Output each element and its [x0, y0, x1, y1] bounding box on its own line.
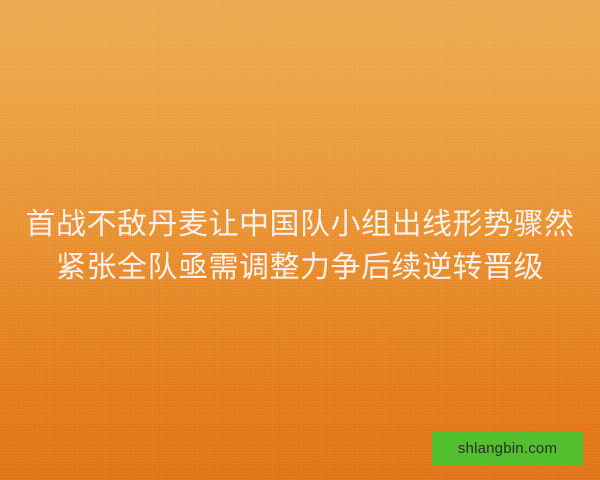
headline-text: 首战不敌丹麦让中国队小组出线形势骤然 紧张全队亟需调整力争后续逆转晋级: [0, 203, 600, 289]
headline-line-1: 首战不敌丹麦让中国队小组出线形势骤然: [0, 203, 600, 246]
watermark-url-label: shlangbin.com: [458, 441, 557, 456]
headline-line-2: 紧张全队亟需调整力争后续逆转晋级: [0, 246, 600, 289]
watermark-badge[interactable]: shlangbin.com: [432, 431, 583, 465]
banner-image: 首战不敌丹麦让中国队小组出线形势骤然 紧张全队亟需调整力争后续逆转晋级 shla…: [0, 0, 600, 480]
